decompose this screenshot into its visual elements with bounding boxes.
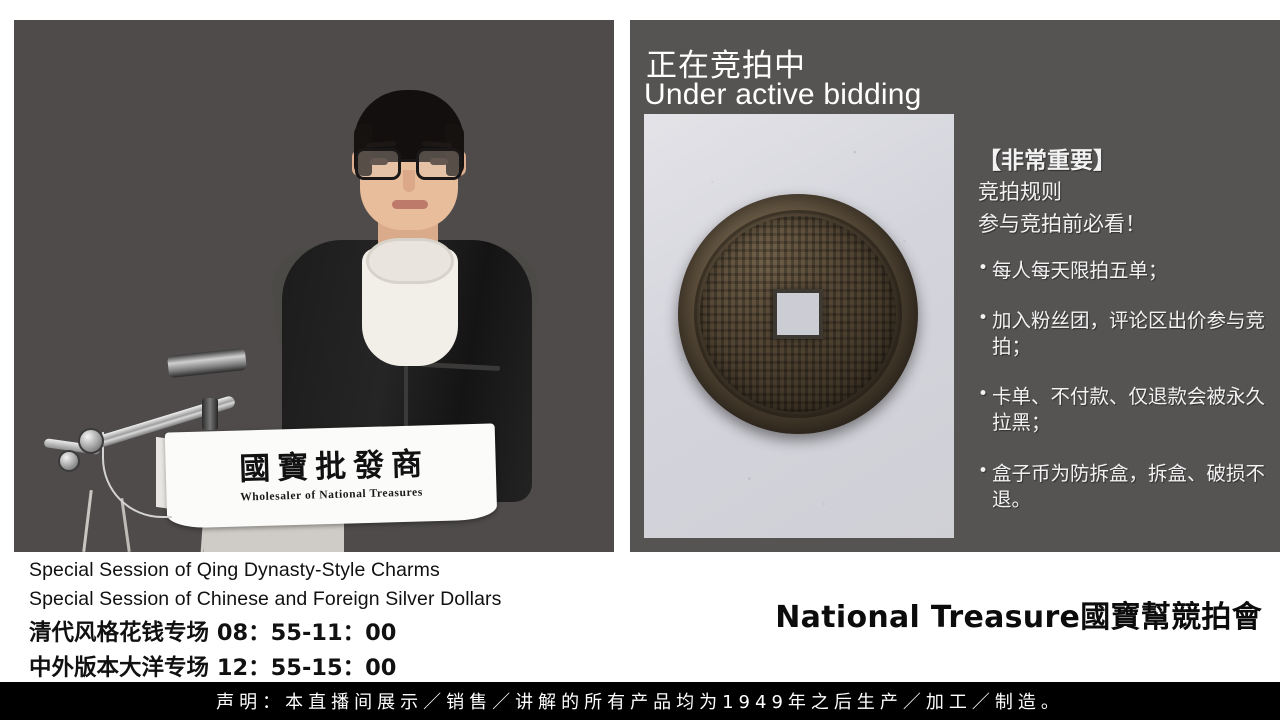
microphone-cable	[102, 432, 172, 518]
boom-ball-joint[interactable]	[202, 398, 218, 430]
podium-sign-english: Wholesaler of National Treasures	[240, 486, 423, 503]
glasses-lens-right	[416, 148, 462, 180]
bidding-rules: 【非常重要】 竞拍规则 参与竞拍前必看！ 每人每天限拍五单； 加入粉丝团，评论区…	[978, 146, 1268, 537]
rule-item: 卡单、不付款、仅退款会被永久拉黑；	[978, 384, 1268, 436]
nose	[403, 170, 415, 192]
rules-subheading-1: 竞拍规则	[978, 178, 1268, 208]
livestream-screen: 國寶批發商 Wholesaler of National Treasures 正…	[0, 0, 1280, 720]
schedule-chinese-line-1: 清代风格花钱专场 08：55-11：00	[29, 617, 629, 649]
rules-list: 每人每天限拍五单； 加入粉丝团，评论区出价参与竞拍； 卡单、不付款、仅退款会被永…	[978, 258, 1268, 513]
auction-item-photo[interactable]	[644, 114, 954, 538]
session-schedule: Special Session of Qing Dynasty-Style Ch…	[29, 556, 629, 684]
mouth	[392, 200, 428, 209]
boom-clamp-knob[interactable]	[78, 428, 104, 454]
rules-subheading-2: 参与竞拍前必看！	[978, 210, 1268, 240]
presenter-video-panel[interactable]: 國寶批發商 Wholesaler of National Treasures	[14, 20, 614, 552]
coin-square-hole	[773, 289, 823, 339]
turtleneck-collar	[366, 238, 454, 284]
podium-sign-chinese: 國寶批發商	[232, 449, 430, 485]
chinese-cash-coin	[678, 194, 918, 434]
rule-item: 每人每天限拍五单；	[978, 258, 1268, 284]
schedule-chinese-line-2: 中外版本大洋专场 12：55-15：00	[29, 652, 629, 684]
rules-heading: 【非常重要】	[978, 146, 1268, 176]
rule-item: 盒子币为防拆盒，拆盒、破损不退。	[978, 461, 1268, 513]
schedule-english-line-2: Special Session of Chinese and Foreign S…	[29, 585, 629, 614]
boom-clamp-knob[interactable]	[58, 450, 80, 472]
channel-brand-title: National Treasure國寶幫競拍會	[775, 592, 1262, 636]
schedule-english-line-1: Special Session of Qing Dynasty-Style Ch…	[29, 556, 629, 585]
phone-holder-clamp[interactable]	[167, 348, 247, 378]
microphone-boom-arm	[54, 350, 244, 520]
bidding-status-english: Under active bidding	[644, 78, 922, 112]
bidding-info-panel: 正在竞拍中 Under active bidding 【非常重要】 竞拍规则 参…	[630, 20, 1280, 552]
legal-disclaimer-bar: 声明：本直播间展示／销售／讲解的所有产品均为1949年之后生产／加工／制造。	[0, 682, 1280, 720]
rule-item: 加入粉丝团，评论区出价参与竞拍；	[978, 308, 1268, 360]
glasses-lens-left	[355, 148, 401, 180]
glasses-bridge	[401, 159, 418, 162]
